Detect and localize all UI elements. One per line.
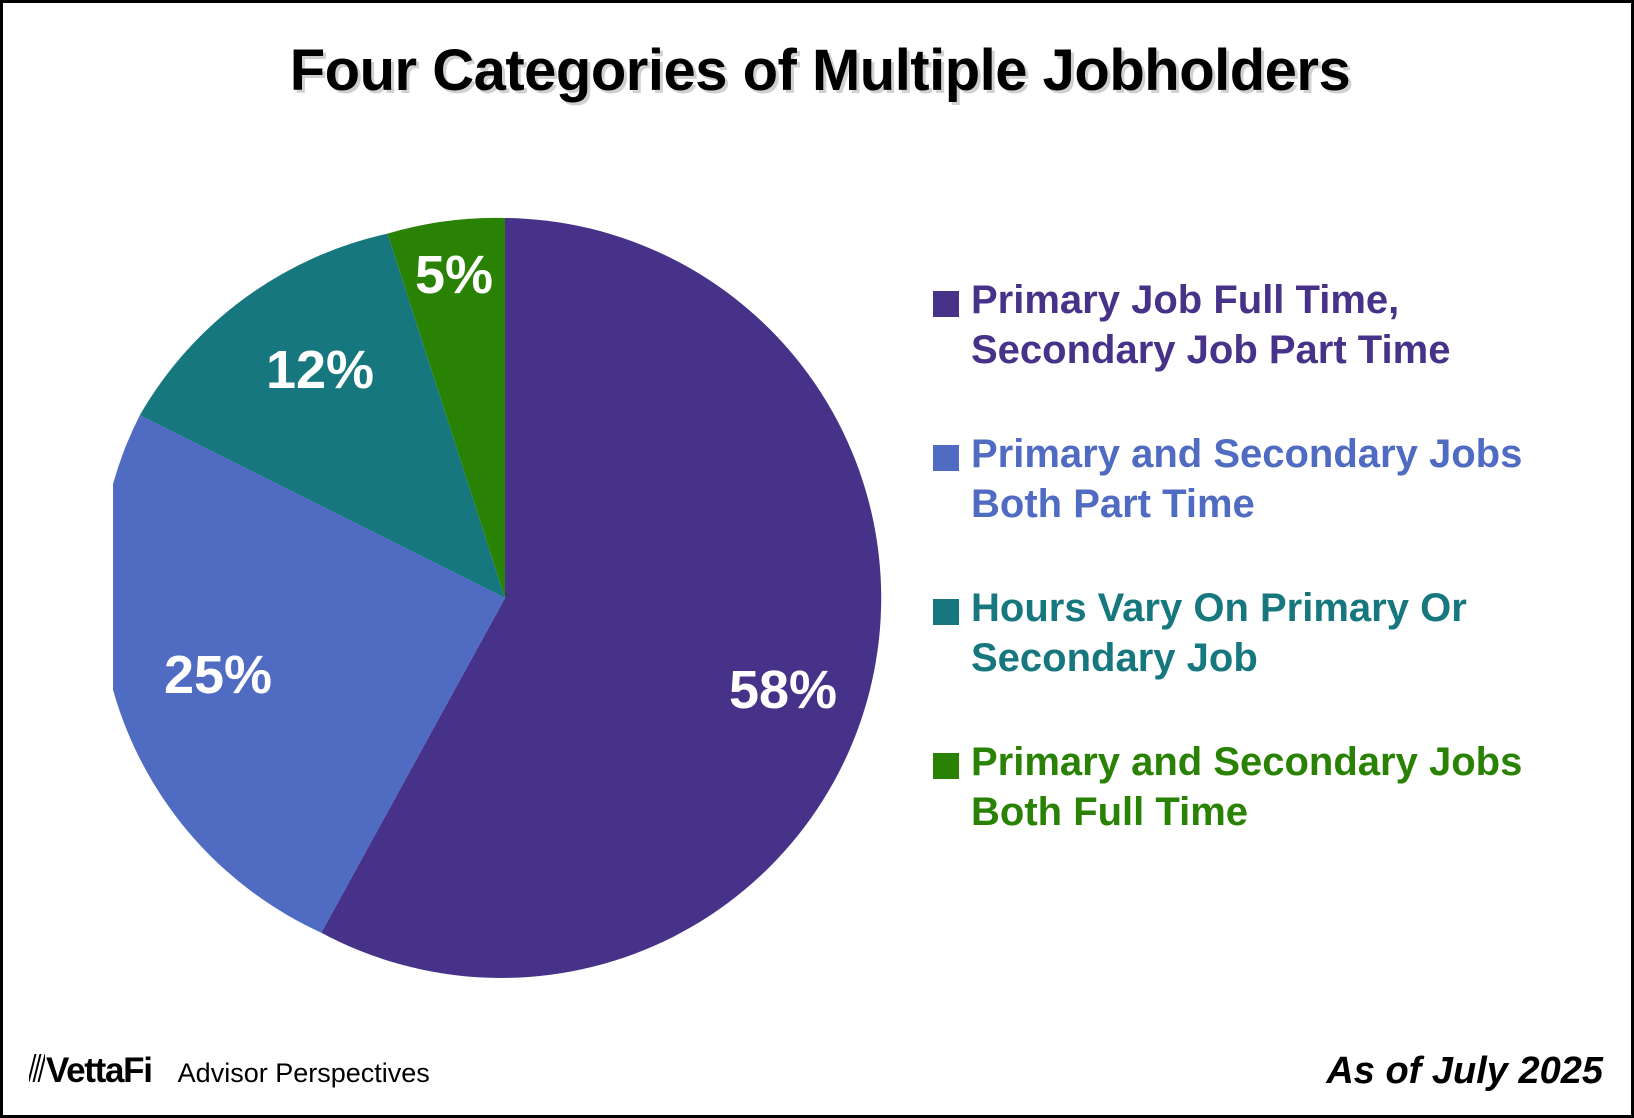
legend-swatch-icon	[933, 291, 959, 317]
slice-label-12: 12%	[266, 340, 374, 400]
legend-swatch-icon	[933, 753, 959, 779]
pie-chart: 58% 25% 12% 5%	[113, 208, 903, 983]
legend-item-label: Hours Vary On Primary Or Secondary Job	[971, 583, 1549, 683]
legend-item-label: Primary Job Full Time, Secondary Job Par…	[971, 275, 1549, 375]
legend-item-hours-vary[interactable]: Hours Vary On Primary Or Secondary Job	[933, 583, 1573, 683]
chart-legend: Primary Job Full Time, Secondary Job Par…	[933, 275, 1573, 837]
legend-item-label: Primary and Secondary Jobs Both Part Tim…	[971, 429, 1549, 529]
publication-name: Advisor Perspectives	[178, 1058, 430, 1089]
page-title: Four Categories of Multiple Jobholders	[3, 39, 1634, 103]
slice-label-25: 25%	[164, 645, 272, 705]
footer-branding: VettaFi Advisor Perspectives	[29, 1051, 430, 1091]
slice-label-58: 58%	[729, 660, 837, 720]
legend-swatch-icon	[933, 599, 959, 625]
legend-item-label: Primary and Secondary Jobs Both Full Tim…	[971, 737, 1549, 837]
legend-swatch-icon	[933, 445, 959, 471]
legend-item-both-part-time[interactable]: Primary and Secondary Jobs Both Part Tim…	[933, 429, 1573, 529]
pie-chart-svg: 58% 25% 12% 5%	[113, 208, 903, 983]
vettafi-stripes-icon	[29, 1052, 45, 1082]
vettafi-wordmark: VettaFi	[46, 1051, 152, 1091]
as-of-date: As of July 2025	[1326, 1050, 1603, 1093]
legend-item-both-full-time[interactable]: Primary and Secondary Jobs Both Full Tim…	[933, 737, 1573, 837]
chart-canvas: Four Categories of Multiple Jobholders 5…	[0, 0, 1634, 1118]
slice-label-5: 5%	[415, 245, 493, 305]
vettafi-logo: VettaFi	[29, 1051, 152, 1091]
legend-item-primary-full-secondary-part[interactable]: Primary Job Full Time, Secondary Job Par…	[933, 275, 1573, 375]
